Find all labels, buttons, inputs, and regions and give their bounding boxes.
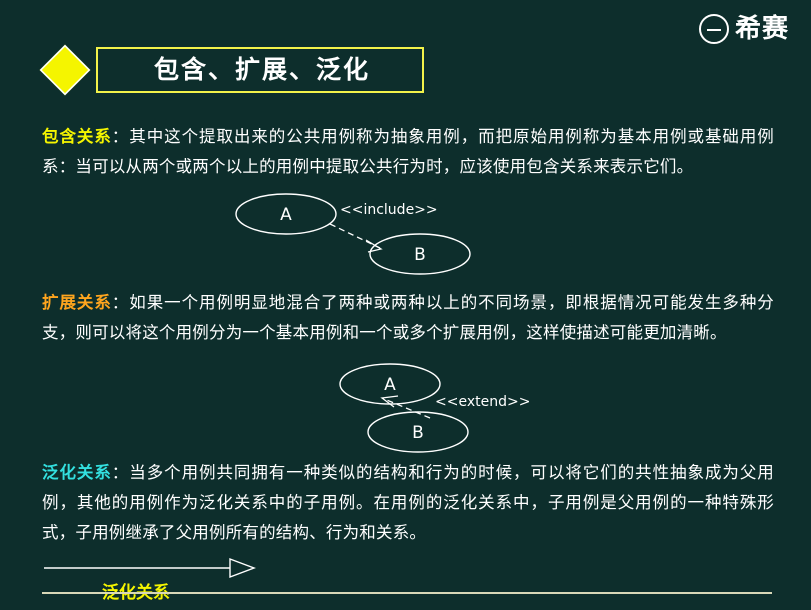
page-title: 包含、扩展、泛化 <box>112 53 412 87</box>
slide: 希赛 包含、扩展、泛化 包含关系：其中这个提取出来的公共用例称为抽象用例，而把原… <box>0 0 811 610</box>
diagram-generalization-svg <box>42 556 292 580</box>
section-include-body: ：其中这个提取出来的公共用例称为抽象用例，而把原始用例称为基本用例或基础用例系：… <box>42 127 774 176</box>
section-extend-text: 扩展关系：如果一个用例明显地混合了两种或两种以上的不同场景，即根据情况可能发生多… <box>42 288 774 348</box>
section-include-lead: 包含关系 <box>42 127 112 146</box>
slide-title-bar: 包含、扩展、泛化 <box>42 47 424 95</box>
diagram-generalization: 泛化关系 <box>42 556 292 596</box>
diagram-include: A B <<include>> <box>230 192 560 282</box>
section-generalization-body: ：当多个用例共同拥有一种类似的结构和行为的时候，可以将它们的共性抽象成为父用例，… <box>42 463 774 542</box>
use-case-b-label: B <box>412 423 424 443</box>
section-extend-lead: 扩展关系 <box>42 293 112 312</box>
include-stereotype-label: <<include>> <box>340 202 438 218</box>
diagram-extend: A B <<extend>> <box>330 362 620 454</box>
diamond-icon <box>40 45 91 96</box>
generalization-label: 泛化关系 <box>102 578 170 603</box>
section-extend-body: ：如果一个用例明显地混合了两种或两种以上的不同场景，即根据情况可能发生多种分支，… <box>42 293 774 342</box>
use-case-b-label: B <box>414 245 426 265</box>
section-generalization-lead: 泛化关系 <box>42 463 112 482</box>
brand-name: 希赛 <box>735 16 789 42</box>
section-generalization-text: 泛化关系：当多个用例共同拥有一种类似的结构和行为的时候，可以将它们的共性抽象成为… <box>42 458 774 548</box>
generalization-triangle-icon <box>230 559 254 577</box>
use-case-a-label: A <box>384 375 396 395</box>
brand-logo: 希赛 <box>699 14 789 44</box>
bottom-divider <box>42 592 772 594</box>
section-include-text: 包含关系：其中这个提取出来的公共用例称为抽象用例，而把原始用例称为基本用例或基础… <box>42 122 774 182</box>
extend-stereotype-label: <<extend>> <box>435 394 530 410</box>
use-case-a-label: A <box>280 205 292 225</box>
circle-dash-icon <box>699 14 729 44</box>
